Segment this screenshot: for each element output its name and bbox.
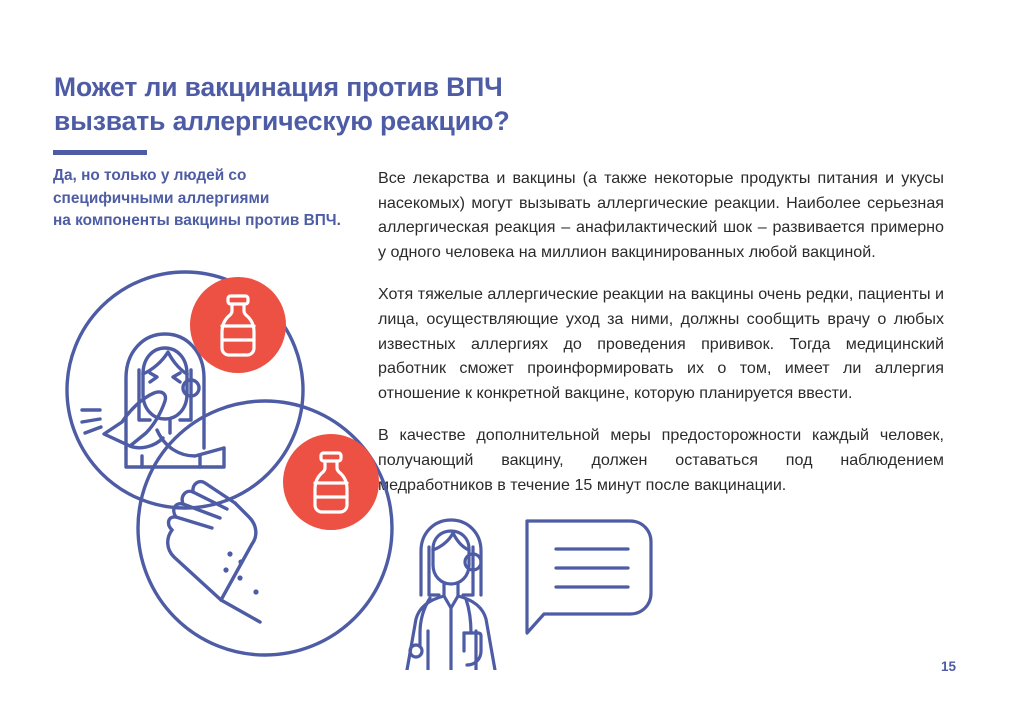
itchy-hand-icon (168, 482, 260, 622)
vaccine-vial-badge-top (190, 277, 286, 373)
slide-page: Может ли вакцинация против ВПЧ вызвать а… (0, 0, 1024, 722)
body-text-column: Все лекарства и вакцины (а также некотор… (378, 166, 944, 497)
allergy-symptoms-illustration (60, 270, 395, 660)
page-title-line-2: вызвать аллергическую реакцию? (54, 104, 614, 138)
body-paragraph-1: Все лекарства и вакцины (а также некотор… (378, 166, 944, 264)
subtitle: Да, но только у людей со специфичными ал… (53, 165, 353, 233)
doctor-figure-icon (407, 520, 495, 670)
doctor-speech-illustration (392, 505, 792, 670)
subtitle-line-1: Да, но только у людей со (53, 165, 353, 188)
page-title: Может ли вакцинация против ВПЧ вызвать а… (54, 70, 614, 138)
subtitle-rule (53, 150, 147, 155)
vaccine-vial-badge-bottom (283, 434, 379, 530)
subtitle-line-3: на компоненты вакцины против ВПЧ. (53, 210, 353, 233)
body-paragraph-2: Хотя тяжелые аллергические реакции на ва… (378, 282, 944, 405)
page-title-line-1: Может ли вакцинация против ВПЧ (54, 70, 614, 104)
circle-outline-bottom (138, 401, 392, 655)
page-number: 15 (941, 659, 956, 674)
body-paragraph-3: В качестве дополнительной меры предостор… (378, 423, 944, 497)
speech-bubble-icon (527, 521, 651, 633)
subtitle-line-2: специфичными аллергиями (53, 188, 353, 211)
